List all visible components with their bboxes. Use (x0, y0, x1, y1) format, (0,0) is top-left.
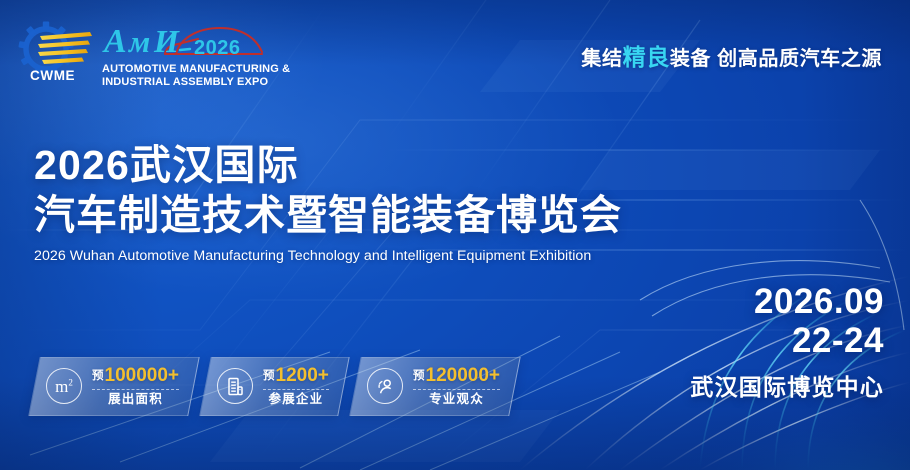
event-date-venue-block: 2026.09 22-24 武汉国际博览中心 (690, 282, 884, 402)
page-title-line2: 汽车制造技术暨智能装备博览会 (34, 190, 622, 240)
stat-number: 120000+ (425, 365, 500, 386)
tagline-part1: 集结 (581, 48, 622, 70)
building-icon (217, 368, 253, 404)
svg-text:A: A (102, 23, 127, 60)
logo-wordmark-group: A м И 2026 AUTOMOTIVE MANUFACTURING & IN… (102, 18, 290, 89)
stat-badge-visitors[interactable]: 预120000+ 专业观众 (349, 357, 520, 416)
stat-divider (413, 388, 500, 389)
logo-subtitle-line1: AUTOMOTIVE MANUFACTURING & (102, 63, 290, 77)
header-tagline: 集结精良装备 创高品质汽车之源 (581, 38, 882, 72)
stat-value-exhibition-area: 预100000+ (92, 366, 179, 386)
stat-badge-exhibition-area[interactable]: m2 预100000+ 展出面积 (28, 357, 199, 416)
stats-badge-row: m2 预100000+ 展出面积 (34, 357, 515, 416)
stat-badge-exhibitors[interactable]: 预1200+ 参展企业 (199, 357, 349, 416)
svg-text:2026: 2026 (194, 37, 241, 59)
stat-value-visitors: 预120000+ (413, 366, 500, 386)
event-date-line2: 22-24 (690, 321, 884, 360)
page-subtitle-english: 2026 Wuhan Automotive Manufacturing Tech… (34, 248, 622, 264)
event-date-line1: 2026.09 (690, 282, 884, 321)
tagline-highlight: 精良 (623, 44, 670, 70)
stat-value-exhibitors: 预1200+ (263, 366, 329, 386)
page-title-line1: 2026武汉国际 (34, 140, 622, 190)
stat-prefix: 预 (413, 370, 425, 382)
cwme-text: CWME (30, 68, 75, 83)
stat-divider (263, 388, 329, 389)
logo-subtitle-line2: INDUSTRIAL ASSEMBLY EXPO (102, 76, 290, 90)
square-meter-icon: m2 (46, 368, 82, 404)
stat-label-exhibitors: 参展企业 (269, 391, 324, 406)
cwme-gear-logo-icon: CWME (16, 18, 98, 84)
visitor-person-icon (367, 368, 403, 404)
headline-block: 2026武汉国际 汽车制造技术暨智能装备博览会 2026 Wuhan Autom… (34, 140, 622, 264)
stat-number: 1200+ (276, 365, 329, 386)
svg-text:м: м (127, 24, 150, 59)
svg-text:И: И (153, 23, 180, 59)
event-venue: 武汉国际博览中心 (690, 368, 884, 402)
stat-prefix: 预 (92, 370, 104, 382)
event-promo-banner: CWME A м И (0, 0, 910, 470)
tagline-part2: 装备 创高品质汽车之源 (670, 48, 882, 70)
cwme-logo-lockup[interactable]: CWME A м И (16, 18, 290, 89)
stat-divider (92, 388, 179, 389)
stat-label-exhibition-area: 展出面积 (108, 391, 163, 406)
stat-number: 100000+ (105, 365, 180, 386)
ami-wordmark-icon: A м И 2026 (102, 20, 280, 64)
stat-prefix: 预 (263, 370, 275, 382)
stat-label-visitors: 专业观众 (429, 391, 484, 406)
